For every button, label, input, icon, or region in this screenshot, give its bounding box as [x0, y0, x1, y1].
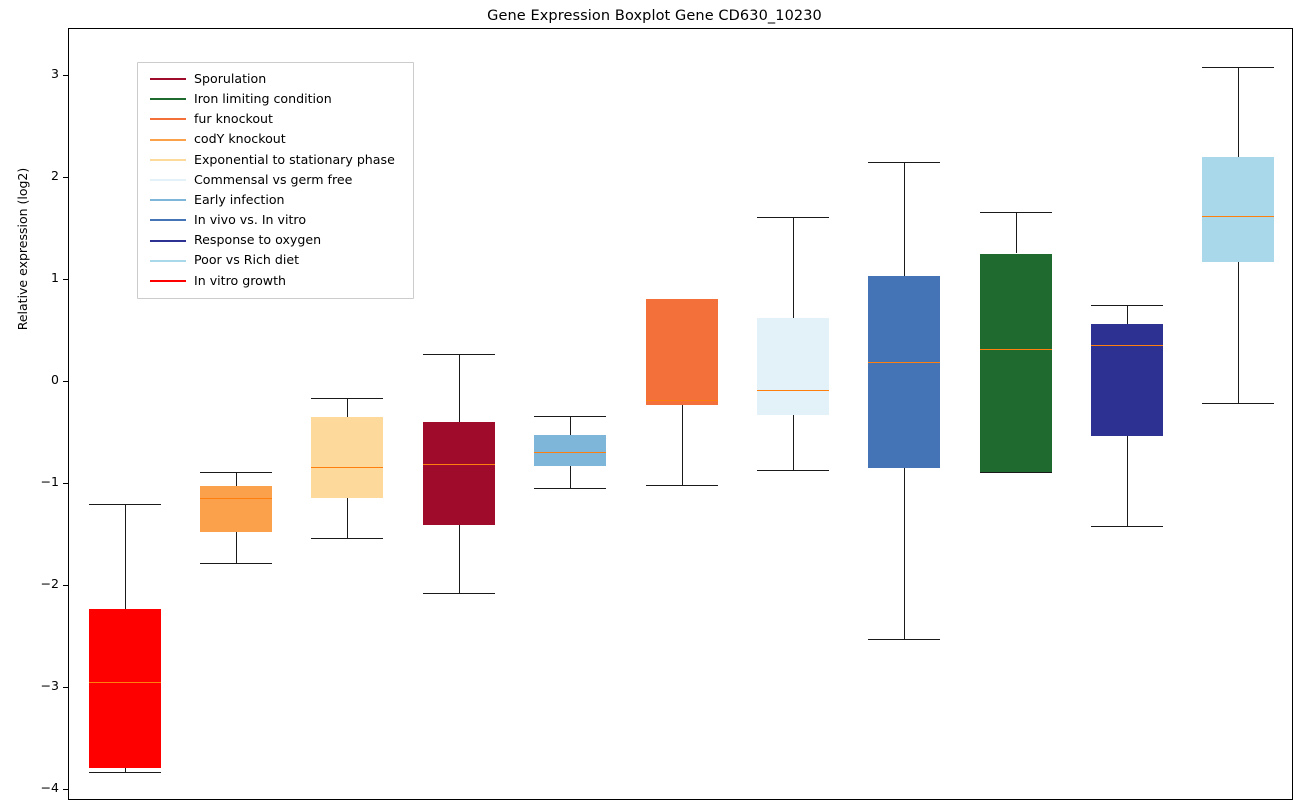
y-axis-tick-label: 1 — [19, 270, 59, 285]
median-line — [1202, 216, 1274, 217]
legend: SporulationIron limiting conditionfur kn… — [137, 62, 414, 299]
whisker-upper — [1238, 67, 1239, 157]
legend-item[interactable]: codY knockout — [146, 130, 405, 150]
legend-color-swatch — [150, 280, 186, 282]
legend-color-swatch — [150, 219, 186, 221]
legend-color-swatch — [150, 260, 186, 262]
legend-item-label: Early infection — [194, 194, 285, 207]
legend-color-swatch — [150, 199, 186, 201]
legend-color-swatch — [150, 159, 186, 161]
legend-item-label: In vivo vs. In vitro — [194, 214, 306, 227]
figure: Gene Expression Boxplot Gene CD630_10230… — [0, 0, 1309, 812]
legend-item-label: Response to oxygen — [194, 234, 321, 247]
legend-color-swatch — [150, 139, 186, 141]
legend-color-swatch — [150, 118, 186, 120]
y-axis-tick-label: 0 — [19, 372, 59, 387]
legend-item-label: In vitro growth — [194, 275, 286, 288]
legend-color-swatch — [150, 78, 186, 80]
legend-item[interactable]: In vitro growth — [146, 271, 405, 291]
legend-color-swatch — [150, 179, 186, 181]
plot-area: Relative expression (log2) 3210−1−2−3−4 … — [68, 28, 1293, 800]
legend-color-swatch — [150, 98, 186, 100]
legend-item-label: codY knockout — [194, 133, 286, 146]
legend-item[interactable]: Exponential to stationary phase — [146, 150, 405, 170]
y-axis-tick-label: −3 — [19, 678, 59, 693]
legend-item[interactable]: In vivo vs. In vitro — [146, 210, 405, 230]
box-rect — [1202, 157, 1274, 262]
legend-item-label: Poor vs Rich diet — [194, 254, 299, 267]
legend-item-label: fur knockout — [194, 113, 273, 126]
y-axis-label: Relative expression (log2) — [15, 129, 30, 369]
legend-item-label: Commensal vs germ free — [194, 174, 352, 187]
legend-item[interactable]: Sporulation — [146, 69, 405, 89]
y-axis-tick-label: −1 — [19, 474, 59, 489]
chart-title: Gene Expression Boxplot Gene CD630_10230 — [0, 8, 1309, 24]
legend-item[interactable]: Response to oxygen — [146, 231, 405, 251]
legend-item[interactable]: Iron limiting condition — [146, 89, 405, 109]
legend-color-swatch — [150, 240, 186, 242]
legend-item[interactable]: Commensal vs germ free — [146, 170, 405, 190]
legend-item[interactable]: fur knockout — [146, 109, 405, 129]
y-axis-tick-label: 3 — [19, 66, 59, 81]
legend-item[interactable]: Early infection — [146, 190, 405, 210]
legend-item-label: Exponential to stationary phase — [194, 154, 395, 167]
legend-item[interactable]: Poor vs Rich diet — [146, 251, 405, 271]
legend-item-label: Iron limiting condition — [194, 93, 332, 106]
y-axis-tick-label: −4 — [19, 780, 59, 795]
y-axis-tick-label: −2 — [19, 576, 59, 591]
cap-lower — [1202, 403, 1274, 404]
cap-upper — [1202, 67, 1274, 68]
legend-item-label: Sporulation — [194, 73, 266, 86]
y-axis-tick-label: 2 — [19, 168, 59, 183]
whisker-lower — [1238, 262, 1239, 404]
